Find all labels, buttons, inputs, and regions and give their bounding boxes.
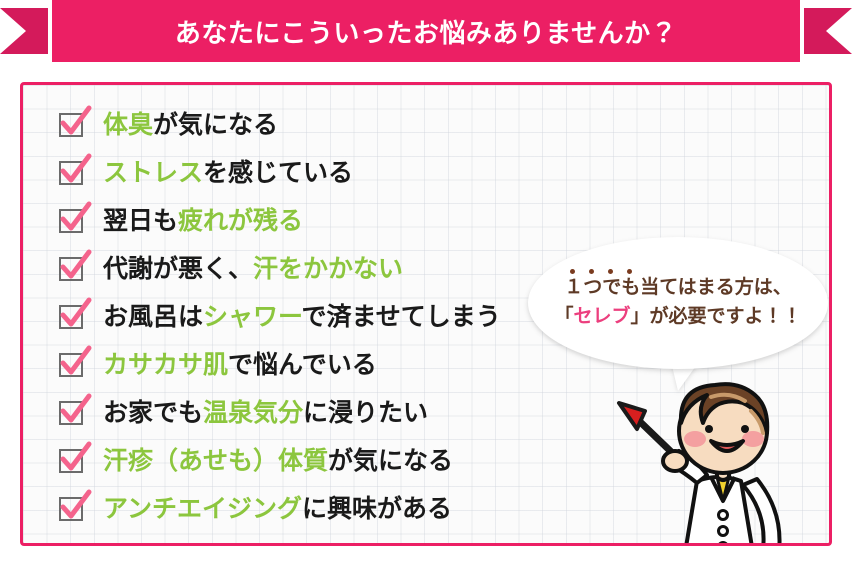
list-item-highlight: 疲れが残る [178, 207, 303, 235]
teacher-character-illustration [611, 377, 832, 546]
list-item-highlight: 体臭 [103, 111, 153, 139]
brand-name: セレブ [573, 306, 630, 327]
list-item-highlight: 汗をかかない [253, 255, 403, 283]
list-item-rest: に浸りたい [303, 399, 428, 427]
banner-root: あなたにこういったお悩みありませんか？ 体臭が気になる ス [0, 0, 852, 566]
list-item-label: 翌日も疲れが残る [103, 209, 303, 234]
list-item-label: 汗疹（あせも）体質が気になる [103, 449, 453, 474]
ribbon-tail-left [0, 8, 48, 54]
list-item-label: 体臭が気になる [103, 113, 278, 138]
quote-close-and-rest: 」が必要ですよ！！ [631, 306, 802, 327]
quote-open: 「 [554, 306, 573, 327]
checkbox-checked-icon[interactable] [59, 113, 83, 137]
list-item-rest: で悩んでいる [228, 351, 377, 379]
content-panel: 体臭が気になる ストレスを感じている 翌日も疲れが残る [20, 82, 832, 546]
list-item[interactable]: 汗疹（あせも）体質が気になる [59, 437, 619, 485]
list-item-lead: お家でも [103, 399, 203, 427]
checkbox-checked-icon[interactable] [59, 161, 83, 185]
list-item-highlight: シャワー [203, 303, 302, 331]
speech-bubble: １つでも当てはまる方は、 「セレブ」が必要ですよ！！ [528, 237, 828, 369]
list-item-label: ストレスを感じている [103, 161, 353, 186]
list-item-rest: で済ませてしまう [302, 303, 501, 331]
list-item-highlight: 汗疹（あせも）体質 [103, 447, 328, 475]
speech-bubble-line-2: 「セレブ」が必要ですよ！！ [554, 307, 801, 328]
list-item[interactable]: 体臭が気になる [59, 101, 619, 149]
list-item[interactable]: ストレスを感じている [59, 149, 619, 197]
list-item-highlight: 温泉気分 [203, 399, 303, 427]
speech-bubble-line-1-text: １つでも当てはまる方は、 [564, 277, 792, 298]
checkbox-checked-icon[interactable] [59, 257, 83, 281]
speech-bubble-line-1: １つでも当てはまる方は、 [564, 278, 792, 299]
list-item-highlight: ストレス [103, 159, 203, 187]
list-item-label: お家でも温泉気分に浸りたい [103, 401, 428, 426]
list-item-lead: 代謝が悪く、 [103, 255, 253, 283]
checkbox-checked-icon[interactable] [59, 209, 83, 233]
list-item-label: アンチエイジングに興味がある [103, 497, 452, 522]
header-ribbon: あなたにこういったお悩みありませんか？ [0, 0, 852, 62]
list-item-lead: 翌日も [103, 207, 178, 235]
checkbox-checked-icon[interactable] [59, 497, 83, 521]
checkbox-checked-icon[interactable] [59, 305, 83, 329]
checkbox-checked-icon[interactable] [59, 449, 83, 473]
list-item-highlight: カサカサ肌 [103, 351, 228, 379]
list-item-rest: が気になる [328, 447, 453, 475]
list-item-label: カサカサ肌で悩んでいる [103, 353, 377, 378]
list-item[interactable]: お家でも温泉気分に浸りたい [59, 389, 619, 437]
ribbon-band: あなたにこういったお悩みありませんか？ [52, 0, 800, 62]
list-item-highlight: アンチエイジング [103, 495, 302, 523]
page-title: あなたにこういったお悩みありませんか？ [175, 13, 677, 50]
ribbon-tail-right [804, 8, 852, 54]
list-item[interactable]: アンチエイジングに興味がある [59, 485, 619, 533]
list-item-rest: が気になる [153, 111, 278, 139]
checkbox-checked-icon[interactable] [59, 353, 83, 377]
list-item-lead: お風呂は [103, 303, 203, 331]
checkbox-checked-icon[interactable] [59, 401, 83, 425]
emphasis-dots-icon [570, 269, 632, 274]
list-item-label: お風呂はシャワーで済ませてしまう [103, 305, 501, 330]
list-item-rest: に興味がある [302, 495, 452, 523]
list-item-label: 代謝が悪く、汗をかかない [103, 257, 403, 282]
list-item-rest: を感じている [203, 159, 353, 187]
speech-bubble-text: １つでも当てはまる方は、 「セレブ」が必要ですよ！！ [528, 237, 828, 369]
